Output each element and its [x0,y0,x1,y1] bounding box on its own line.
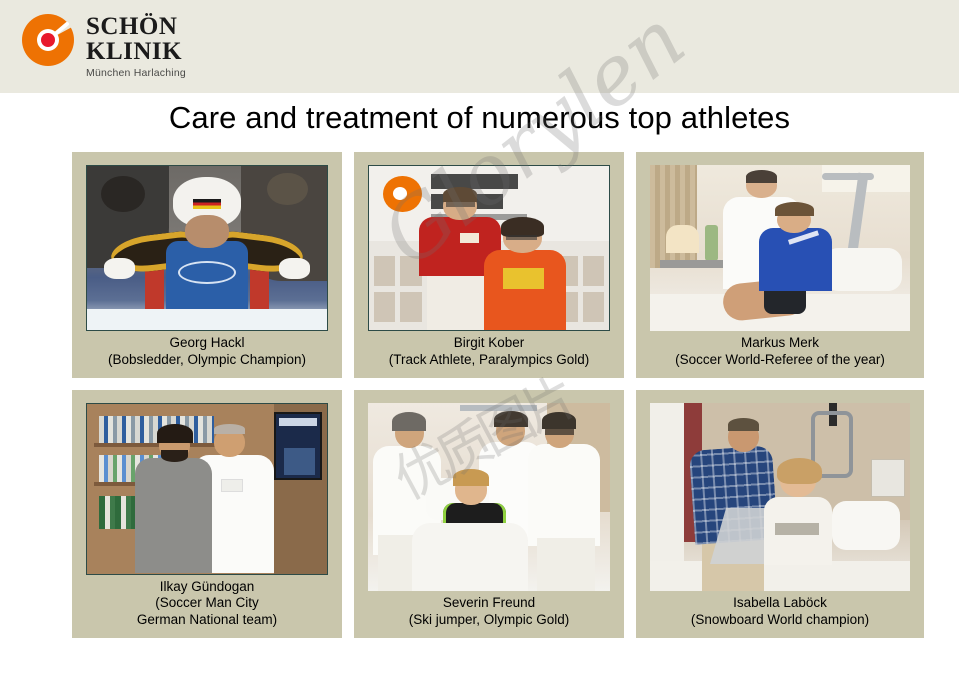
brand-line-2: KLINIK [86,39,186,64]
athlete-caption-isabella-laboeck: Isabella Laböck (Snowboard World champio… [691,591,869,628]
slide-root: SCHÖN KLINIK München Harlaching Care and… [0,0,959,683]
athlete-photo-severin-freund [368,403,610,591]
athlete-caption-ilkay-guendogan: Ilkay Gündogan (Soccer Man City German N… [137,575,277,629]
athlete-caption-markus-merk: Markus Merk (Soccer World-Referee of the… [675,331,885,368]
page-title: Care and treatment of numerous top athle… [0,100,959,136]
athlete-card-georg-hackl[interactable]: Georg Hackl (Bobsledder, Olympic Champio… [72,152,342,378]
athlete-photo-isabella-laboeck [650,403,910,591]
athlete-photo-birgit-kober [368,165,610,331]
brand-logo: SCHÖN KLINIK München Harlaching [20,12,186,80]
athlete-photo-markus-merk [650,165,910,331]
brand-location: München Harlaching [86,64,186,80]
athlete-card-grid: Georg Hackl (Bobsledder, Olympic Champio… [72,152,920,638]
schoen-klinik-circle-logo-icon [20,12,76,68]
athlete-caption-georg-hackl: Georg Hackl (Bobsledder, Olympic Champio… [108,331,306,368]
athlete-photo-ilkay-guendogan [86,403,328,575]
athlete-card-ilkay-guendogan[interactable]: Ilkay Gündogan (Soccer Man City German N… [72,390,342,638]
athlete-card-severin-freund[interactable]: Severin Freund (Ski jumper, Olympic Gold… [354,390,624,638]
athlete-photo-georg-hackl [86,165,328,331]
athlete-card-markus-merk[interactable]: Markus Merk (Soccer World-Referee of the… [636,152,924,378]
athlete-caption-severin-freund: Severin Freund (Ski jumper, Olympic Gold… [409,591,570,628]
athlete-card-birgit-kober[interactable]: Birgit Kober (Track Athlete, Paralympics… [354,152,624,378]
brand-wordmark: SCHÖN KLINIK München Harlaching [86,12,186,80]
athlete-caption-birgit-kober: Birgit Kober (Track Athlete, Paralympics… [389,331,590,368]
brand-line-1: SCHÖN [86,14,186,39]
header-band: SCHÖN KLINIK München Harlaching [0,0,959,93]
athlete-card-isabella-laboeck[interactable]: Isabella Laböck (Snowboard World champio… [636,390,924,638]
